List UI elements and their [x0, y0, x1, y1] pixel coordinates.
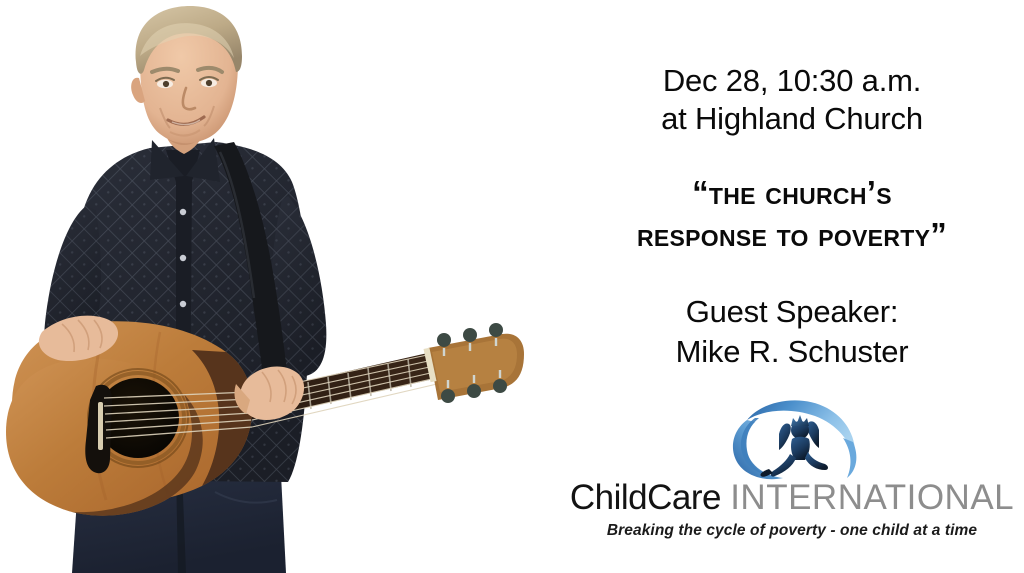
- speaker-label: Guest Speaker:: [676, 292, 909, 332]
- event-datetime-block: Dec 28, 10:30 a.m. at Highland Church: [661, 62, 923, 138]
- event-title-line-2: Response to Poverty: [637, 214, 947, 256]
- event-location: at Highland Church: [661, 100, 923, 138]
- childcare-international-logo: ChildCare INTERNATIONAL Breaking the cyc…: [560, 390, 1024, 540]
- logo-wordmark: ChildCare INTERNATIONAL: [570, 478, 1014, 518]
- logo-word-childcare: ChildCare: [570, 478, 721, 517]
- childcare-swoosh-icon: [717, 390, 867, 482]
- event-announcement-poster: Dec 28, 10:30 a.m. at Highland Church Th…: [0, 0, 1024, 573]
- event-title: The Church’s Response to Poverty: [637, 172, 947, 256]
- event-datetime: Dec 28, 10:30 a.m.: [661, 62, 923, 100]
- speaker-block: Guest Speaker: Mike R. Schuster: [676, 292, 909, 372]
- logo-word-international: INTERNATIONAL: [730, 478, 1014, 517]
- speaker-name: Mike R. Schuster: [676, 332, 909, 372]
- event-title-line-1: The Church’s: [637, 172, 947, 214]
- speaker-photo: [0, 0, 560, 573]
- event-details-panel: Dec 28, 10:30 a.m. at Highland Church Th…: [560, 0, 1024, 573]
- logo-tagline: Breaking the cycle of poverty - one chil…: [607, 522, 977, 540]
